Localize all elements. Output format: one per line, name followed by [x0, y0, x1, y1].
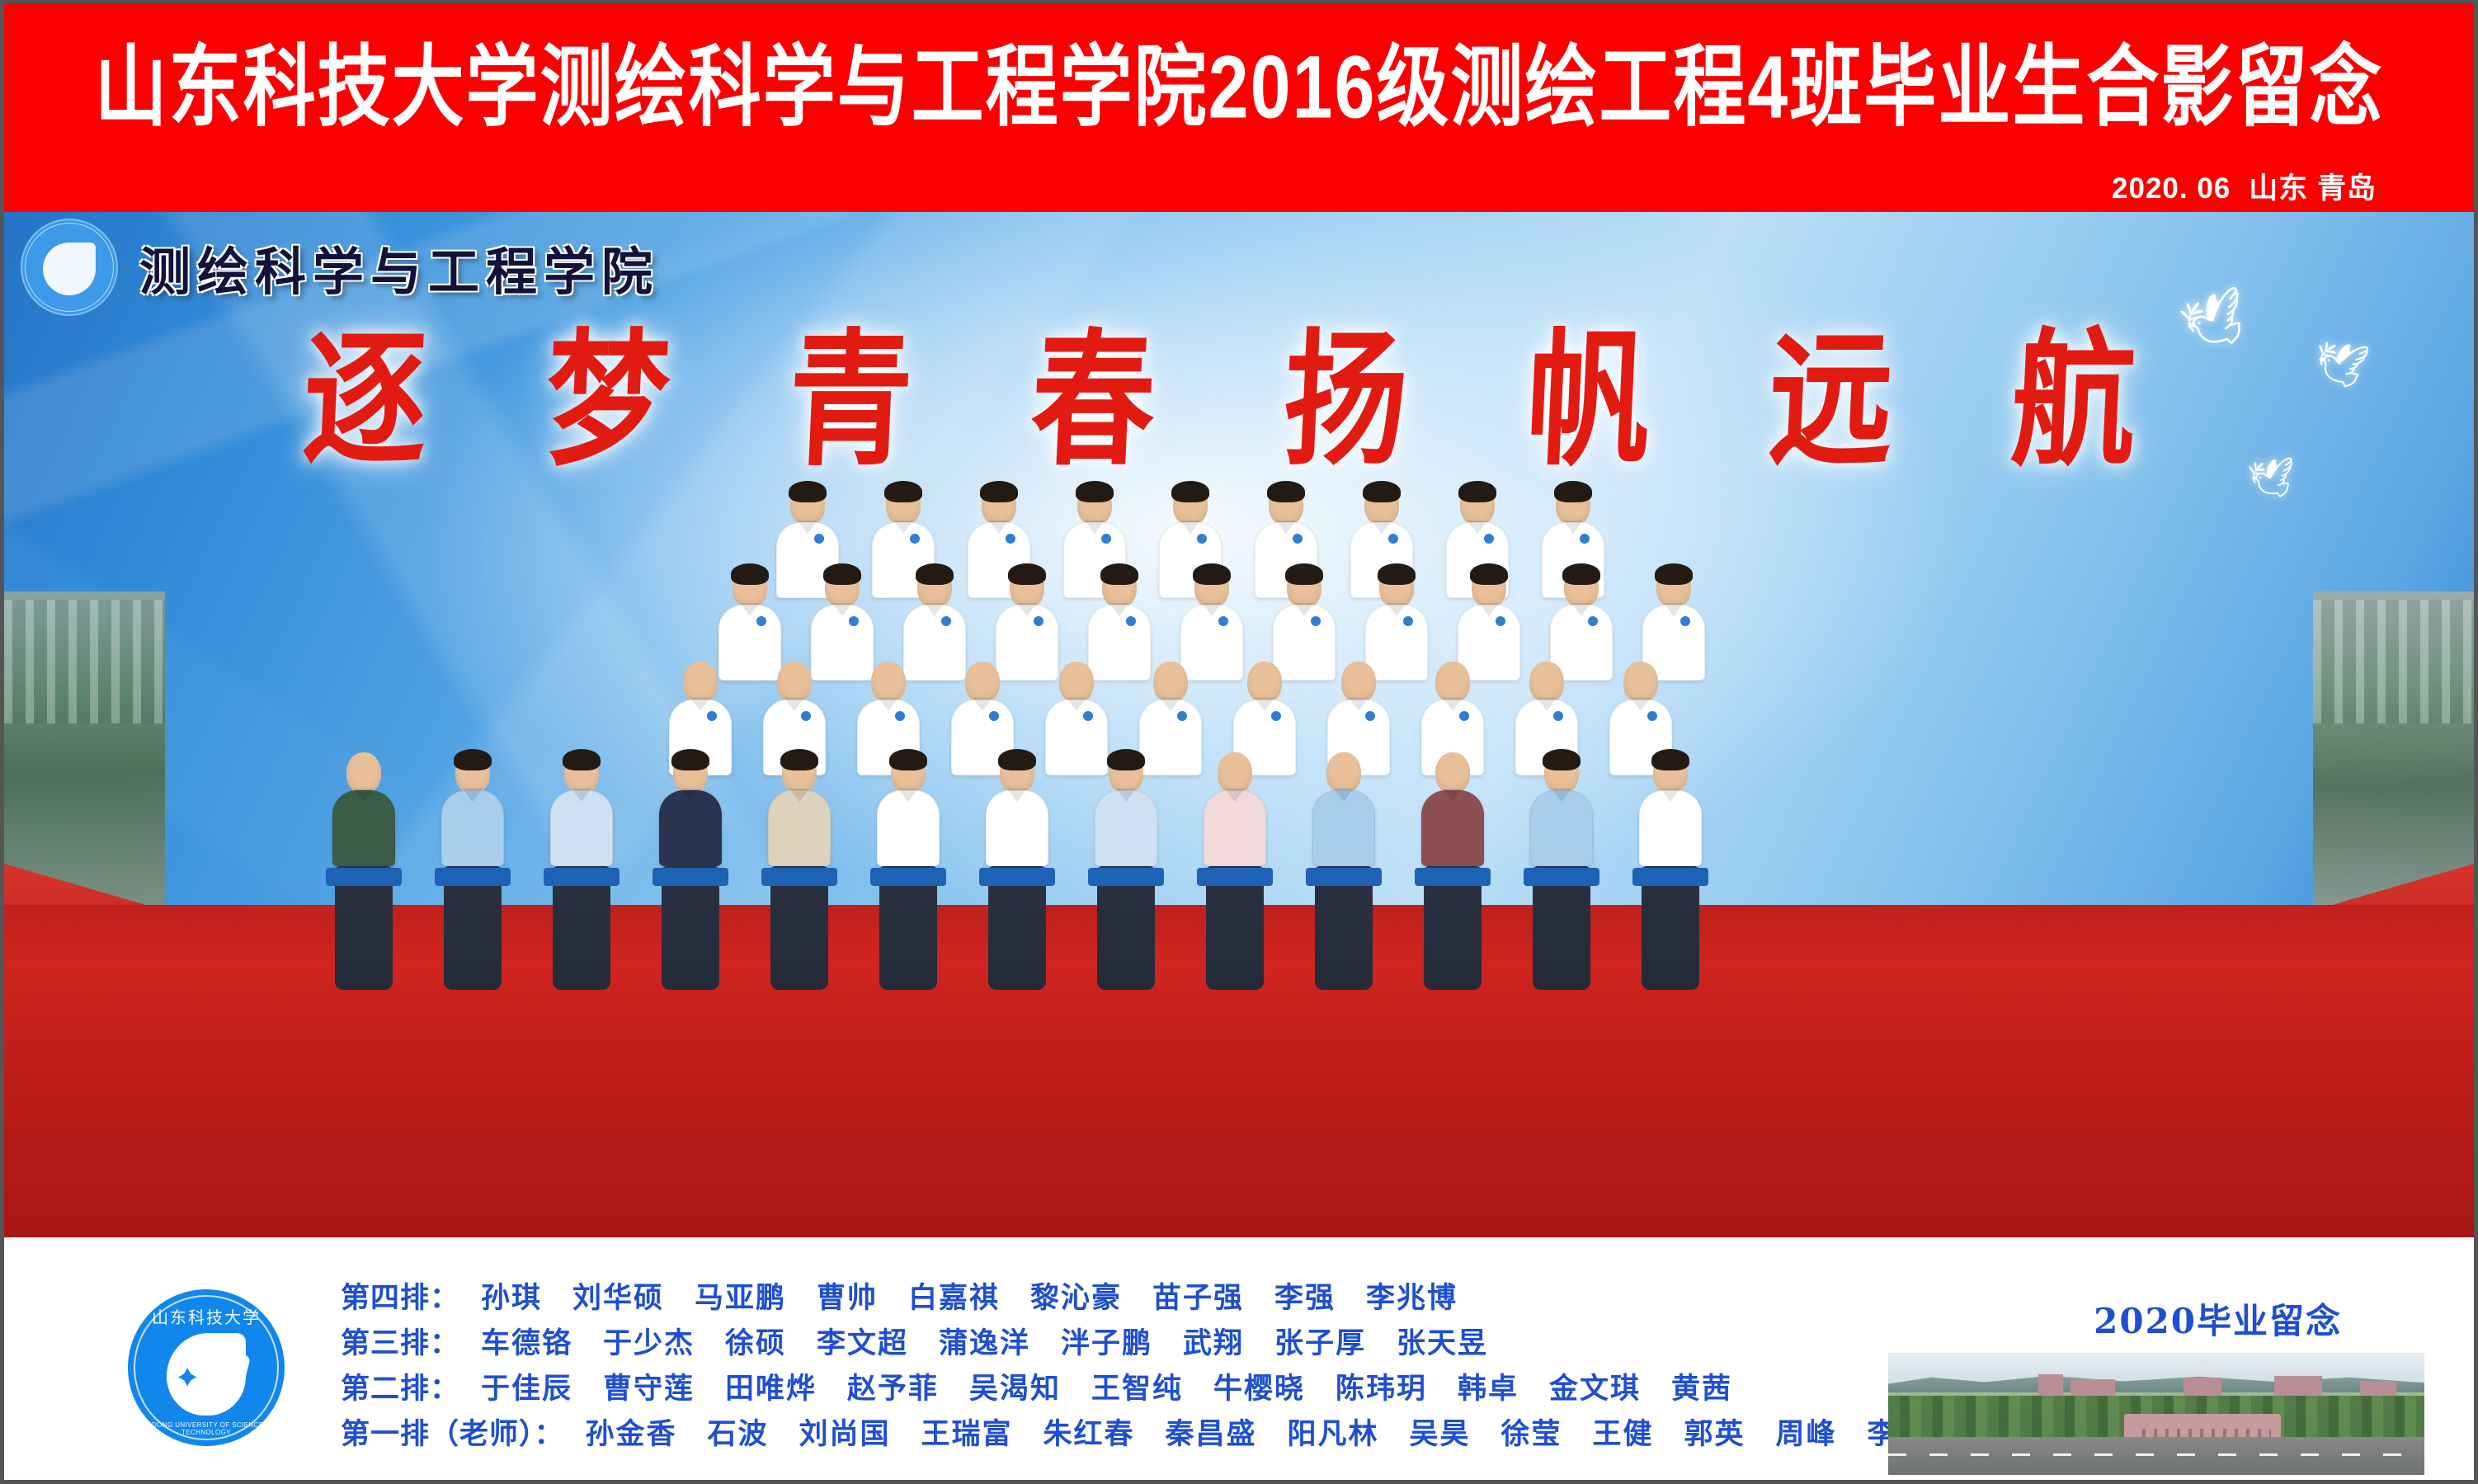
campus-gate-photo — [1888, 1353, 2424, 1475]
person — [768, 752, 831, 990]
graduation-class-photo-poster: 山东科技大学测绘科学与工程学院2016级测绘工程4班毕业生合影留念 2020. … — [0, 0, 2478, 1484]
person — [1095, 752, 1157, 990]
date-text: 2020. 06 — [2112, 172, 2231, 205]
dove-icon: 🕊 — [2246, 457, 2298, 500]
slogan-right: 扬 帆 远 航 — [1280, 314, 2178, 486]
photo-row-1-teachers — [309, 752, 1725, 990]
footer: 山东科技大学 SHANDONG UNIVERSITY OF SCIENCE AN… — [4, 1237, 2474, 1484]
roster-row-2: 第二排：于佳辰 曹守莲 田唯烨 赵予菲 吴渴知 王智纯 牛樱晓 陈玮玥 韩卓 金… — [341, 1366, 1959, 1411]
person — [877, 752, 940, 990]
person — [1421, 752, 1484, 990]
slogan-left: 逐 梦 青 春 — [299, 314, 1197, 486]
person — [1530, 752, 1593, 990]
roster-row-4-label: 第四排： — [341, 1281, 459, 1315]
roster-row-4: 第四排：孙琪 刘华硕 马亚鹏 曹帅 白嘉祺 黎沁豪 苗子强 李强 李兆博 — [341, 1275, 1959, 1321]
person — [659, 752, 722, 990]
roster-row-2-label: 第二排： — [341, 1372, 459, 1406]
roster-row-1-label: 第一排（老师）： — [341, 1417, 564, 1451]
university-logo-icon: 山东科技大学 SHANDONG UNIVERSITY OF SCIENCE AN… — [128, 1289, 285, 1446]
venue-left-scenery — [4, 591, 165, 905]
person — [1204, 752, 1266, 990]
roster-row-4-names: 孙琪 刘华硕 马亚鹏 曹帅 白嘉祺 黎沁豪 苗子强 李强 李兆博 — [481, 1275, 1458, 1321]
roster-row-1-names: 孙金香 石波 刘尚国 王瑞富 朱红春 秦昌盛 阳凡林 吴昊 徐莹 王健 郭英 周… — [586, 1411, 1959, 1457]
roster-row-3: 第三排：车德铬 于少杰 徐硕 李文超 蒲逸洋 泮子鹏 武翔 张子厚 张天昱 — [341, 1321, 1959, 1366]
group-photo: 测绘科学与工程学院 逐 梦 青 春扬 帆 远 航 🕊 🕊 🕊 — [4, 212, 2474, 1237]
roster-row-1: 第一排（老师）：孙金香 石波 刘尚国 王瑞富 朱红春 秦昌盛 阳凡林 吴昊 徐莹… — [341, 1411, 1959, 1457]
dove-icon: 🕊 — [2311, 341, 2372, 391]
title-banner: 山东科技大学测绘科学与工程学院2016级测绘工程4班毕业生合影留念 2020. … — [4, 3, 2474, 212]
logo-cn-text: 山东科技大学 — [128, 1304, 285, 1328]
person — [1312, 752, 1375, 990]
logo-en-text: SHANDONG UNIVERSITY OF SCIENCE AND TECHN… — [128, 1421, 285, 1436]
graduation-mark: 2020毕业留念 — [2094, 1293, 2342, 1344]
person — [986, 752, 1048, 990]
person — [550, 752, 613, 990]
backdrop-slogan: 逐 梦 青 春扬 帆 远 航 — [4, 282, 2474, 493]
person — [332, 752, 395, 990]
venue-right-scenery — [2313, 591, 2474, 905]
name-roster: 第四排：孙琪 刘华硕 马亚鹏 曹帅 白嘉祺 黎沁豪 苗子强 李强 李兆博 第三排… — [341, 1275, 1959, 1457]
roster-row-3-names: 车德铬 于少杰 徐硕 李文超 蒲逸洋 泮子鹏 武翔 张子厚 张天昱 — [481, 1321, 1488, 1366]
roster-row-3-label: 第三排： — [341, 1326, 459, 1360]
title-date-place: 2020. 06山东 青岛 — [2112, 165, 2377, 207]
page-title: 山东科技大学测绘科学与工程学院2016级测绘工程4班毕业生合影留念 — [4, 43, 2474, 131]
place-text: 山东 青岛 — [2249, 172, 2377, 205]
roster-row-2-names: 于佳辰 曹守莲 田唯烨 赵予菲 吴渴知 王智纯 牛樱晓 陈玮玥 韩卓 金文琪 黄… — [481, 1366, 1732, 1411]
person — [441, 752, 504, 990]
person — [1639, 752, 1702, 990]
